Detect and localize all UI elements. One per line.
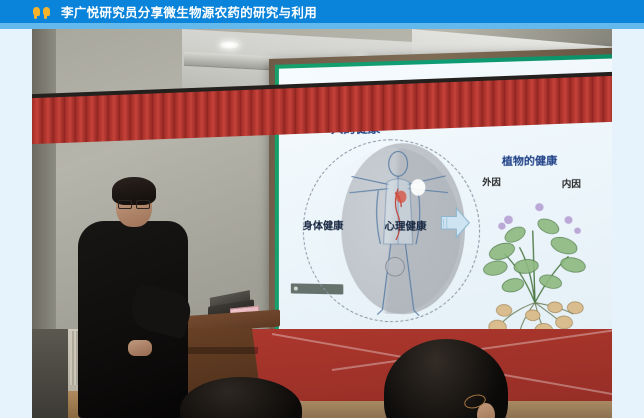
lecture-photo: 二、研究思路 人的健康 植物的健康 外因 内因 <box>32 29 612 418</box>
downlight-icon <box>220 41 239 49</box>
label-plant-health: 植物的健康 <box>502 152 557 168</box>
page-root: 李广悦研究员分享微生物源农药的研究与利用 二、研究思路 人的健康 <box>0 0 644 418</box>
page-header: 李广悦研究员分享微生物源农药的研究与利用 <box>0 0 644 23</box>
wall-left-column <box>32 29 56 359</box>
label-mind-health: 心理健康 <box>385 217 427 233</box>
page-title: 李广悦研究员分享微生物源农药的研究与利用 <box>61 2 317 21</box>
right-arrow-icon <box>439 205 471 241</box>
potato-plant-icon <box>471 188 602 347</box>
quote-icon <box>33 7 50 16</box>
glasses-icon <box>118 200 150 207</box>
header-accent-strip <box>0 23 644 29</box>
label-body-health: 身体健康 <box>303 217 343 232</box>
label-external-cause: 外因 <box>482 176 501 189</box>
speaker-hand <box>128 340 152 356</box>
speaker-figure <box>72 177 202 418</box>
